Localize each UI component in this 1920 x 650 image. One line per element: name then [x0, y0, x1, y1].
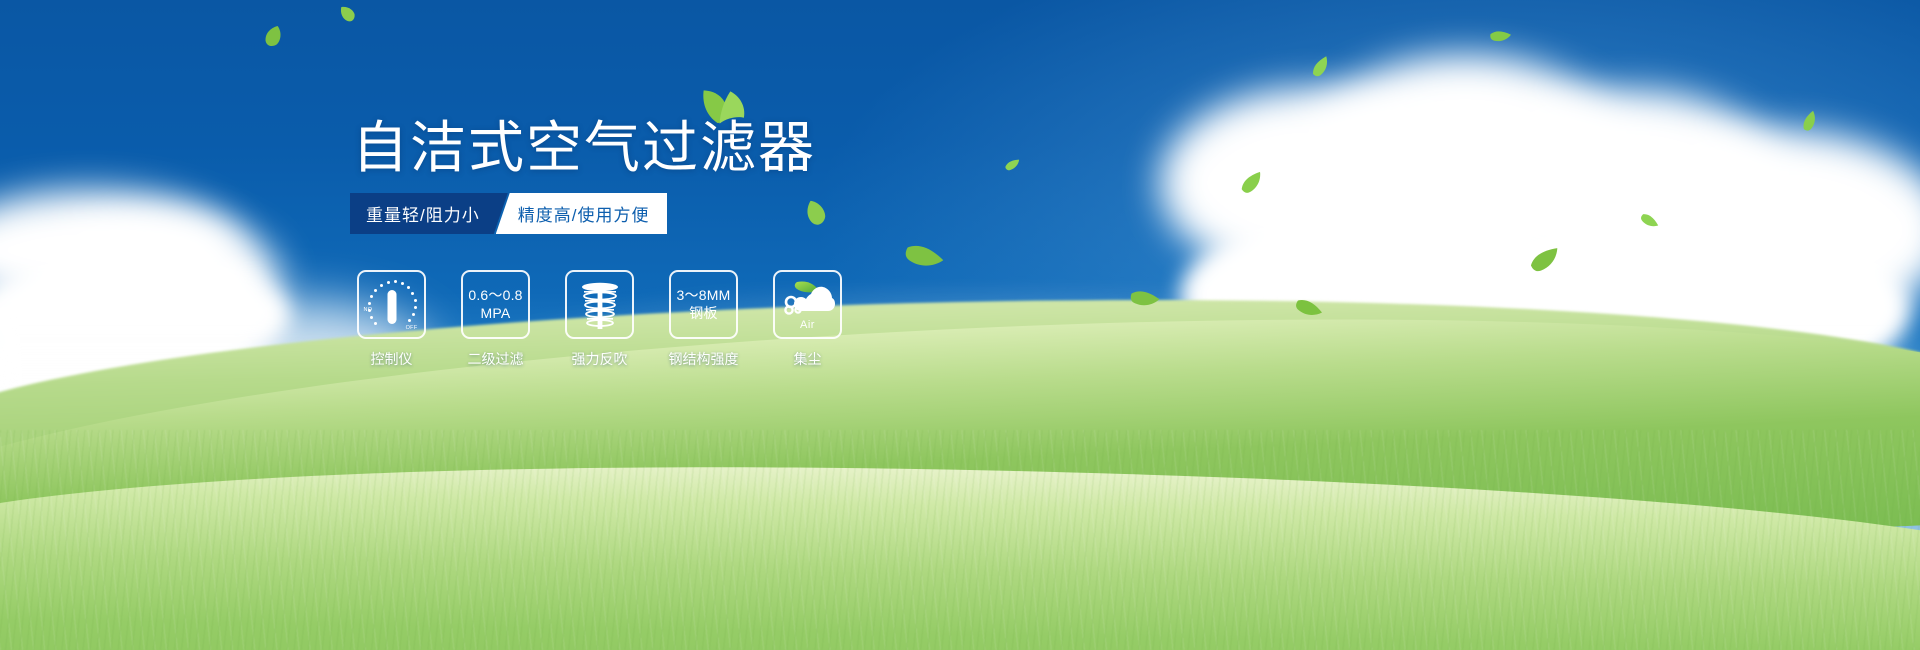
pressure-line-1: 0.6～0.8	[468, 287, 522, 304]
dial-label-off: OFF	[406, 325, 418, 331]
feature-icon-box: 3～8MM 钢板	[669, 270, 738, 339]
tag-label: 重量轻/阻力小	[366, 201, 480, 226]
feature-item-steel-strength: 3～8MM 钢板 钢结构强度	[669, 270, 738, 369]
page-title: 自洁式空气过滤器	[352, 118, 816, 178]
feature-item-secondary-filter: 0.6～0.8 MPA 二级过滤	[461, 270, 530, 369]
pressure-text-icon: 0.6～0.8 MPA	[468, 287, 522, 321]
filter-stack-icon	[578, 280, 622, 330]
feature-label: 强力反吹	[572, 349, 628, 369]
tag-weight-resistance: 重量轻/阻力小	[350, 193, 508, 234]
feature-item-dust-collection: Air 集尘	[773, 270, 842, 369]
dust-cloud-air-icon: Air	[781, 280, 835, 330]
steel-line-2: 钢板	[677, 305, 731, 322]
dial-gauge-icon: NO OFF	[365, 278, 419, 332]
steel-line-1: 3～8MM	[677, 287, 731, 304]
steel-plate-text-icon: 3～8MM 钢板	[677, 287, 731, 321]
feature-item-backblow: 强力反吹	[565, 270, 634, 369]
feature-label: 二级过滤	[468, 349, 524, 369]
air-label: Air	[781, 319, 835, 331]
tag-label: 精度高/使用方便	[518, 201, 650, 226]
hero-banner: 自洁式空气过滤器 重量轻/阻力小 精度高/使用方便	[0, 0, 1920, 650]
feature-icon-box	[565, 270, 634, 339]
feature-label: 集尘	[794, 349, 822, 369]
feature-icon-row: NO OFF 控制仪 0.6～0.8 MPA 二级过滤	[357, 270, 842, 369]
feature-label: 控制仪	[371, 349, 413, 369]
feature-label: 钢结构强度	[669, 349, 739, 369]
dial-label-no: NO	[364, 307, 373, 313]
feature-icon-box: Air	[773, 270, 842, 339]
feature-icon-box: 0.6～0.8 MPA	[461, 270, 530, 339]
banner-content: 自洁式空气过滤器 重量轻/阻力小 精度高/使用方便	[0, 0, 1920, 650]
feature-icon-box: NO OFF	[357, 270, 426, 339]
dial-needle	[387, 290, 396, 324]
pressure-line-2: MPA	[468, 305, 522, 322]
tag-precision-convenience: 精度高/使用方便	[496, 193, 668, 234]
feature-item-controller: NO OFF 控制仪	[357, 270, 426, 369]
tagline-group: 重量轻/阻力小 精度高/使用方便	[350, 193, 667, 234]
